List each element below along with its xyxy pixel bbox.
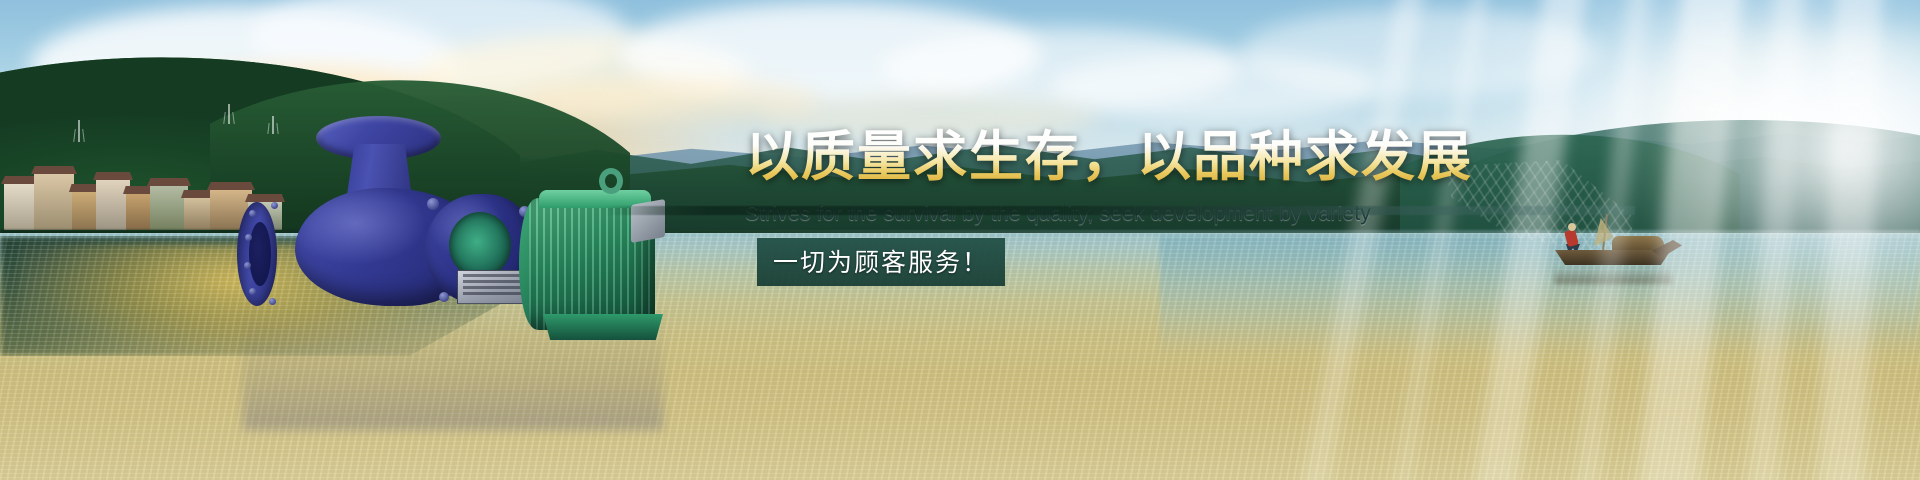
centrifugal-pump-product xyxy=(243,102,663,302)
flange-bolt xyxy=(245,234,252,241)
building xyxy=(72,190,98,230)
building xyxy=(96,178,130,230)
banner-tagline-badge: 一切为顾客服务！ xyxy=(757,238,1005,286)
flange-bolt xyxy=(244,262,251,269)
fisherman-head xyxy=(1568,223,1576,231)
casing-bolt xyxy=(439,292,449,302)
motor-base-plate xyxy=(543,314,663,340)
flange-bolt xyxy=(269,298,276,305)
flange-bolt xyxy=(271,202,278,209)
building xyxy=(34,172,74,230)
casing-bolt xyxy=(427,198,439,210)
divider-band xyxy=(605,206,1635,215)
flange-bolt xyxy=(249,288,256,295)
boat-water-reflection xyxy=(1554,268,1672,284)
fishing-boat xyxy=(1540,228,1690,288)
building xyxy=(150,184,188,230)
banner-copy: 以质量求生存，以品种求发展 Strives for the survival b… xyxy=(745,128,1505,286)
flange-bolt xyxy=(249,210,256,217)
power-pylon-icon xyxy=(228,104,230,124)
hero-banner: 以质量求生存，以品种求发展 Strives for the survival b… xyxy=(0,0,1920,480)
cloud xyxy=(1240,8,1600,98)
pump-coupling-window xyxy=(449,212,511,278)
power-pylon-icon xyxy=(78,120,80,142)
banner-headline: 以质量求生存，以品种求发展 xyxy=(745,128,1505,186)
motor-lifting-eye xyxy=(599,168,623,194)
pump-inlet-bore xyxy=(249,222,271,286)
